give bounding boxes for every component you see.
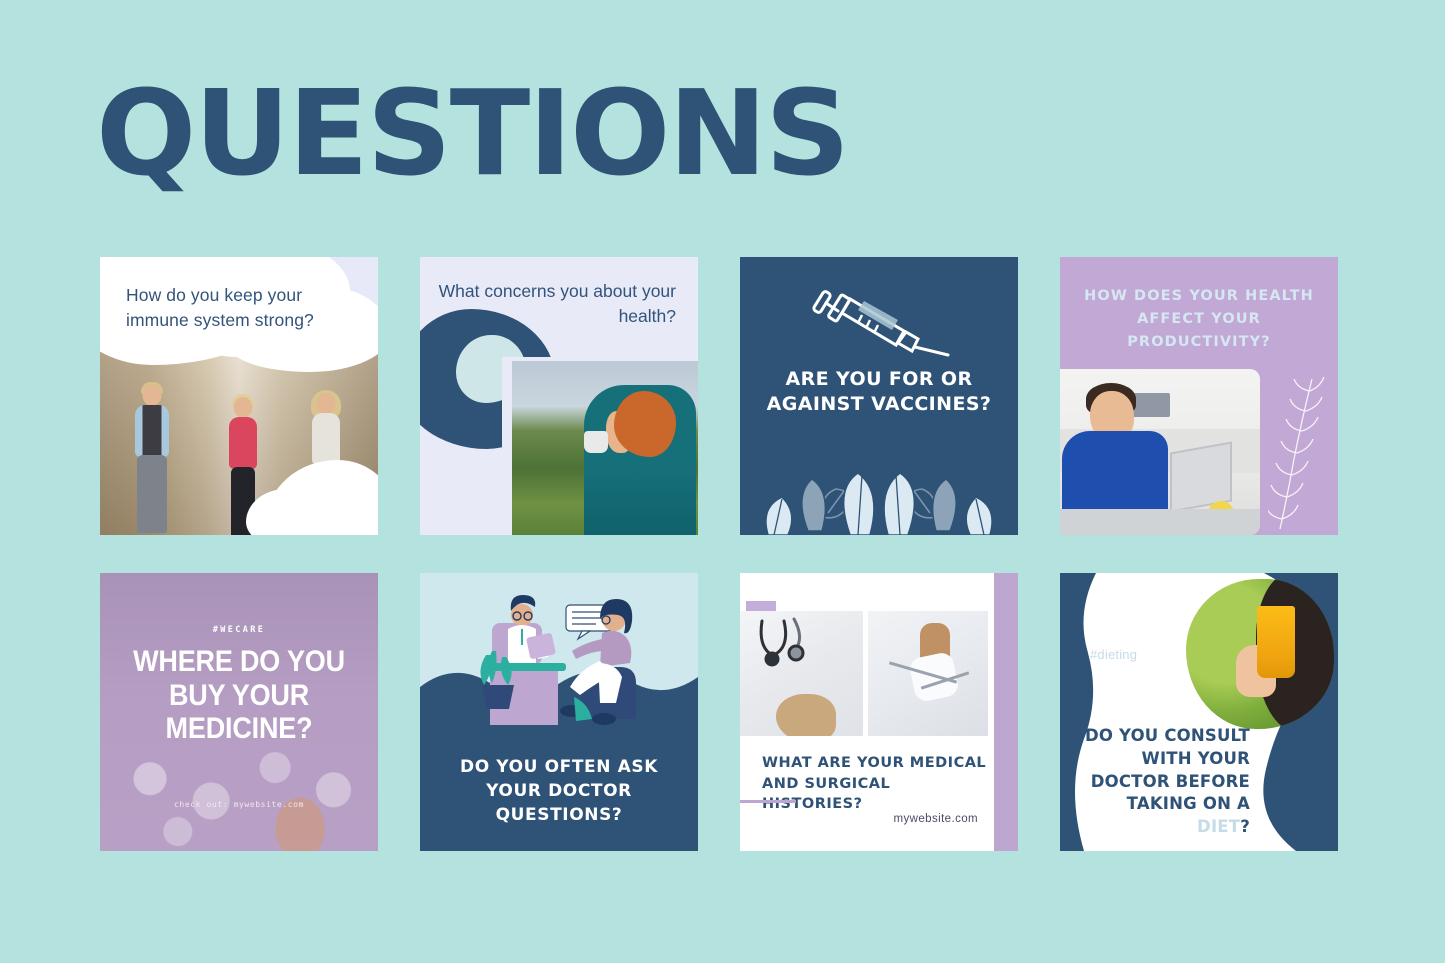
page-title: QUESTIONS: [96, 74, 848, 192]
card-vaccines[interactable]: ARE YOU FOR OR AGAINST VACCINES?: [740, 257, 1018, 535]
question-text-part1: DO YOU CONSULT WITH YOUR DOCTOR BEFORE T…: [1085, 726, 1250, 813]
card-buy-medicine[interactable]: #WECARE WHERE DO YOU BUY YOUR MEDICINE? …: [100, 573, 378, 851]
card-question: DO YOU CONSULT WITH YOUR DOCTOR BEFORE T…: [1078, 725, 1250, 839]
card-question: WHERE DO YOU BUY YOUR MEDICINE?: [123, 645, 355, 746]
card-question: What concerns you about your health?: [436, 279, 676, 329]
card-medical-history[interactable]: WHAT ARE YOUR MEDICAL AND SURGICAL HISTO…: [740, 573, 1018, 851]
card-row-1: How do you keep your immune system stron…: [100, 257, 1345, 535]
purple-accent-bar: [994, 573, 1018, 851]
card-footer-link[interactable]: mywebsite.com: [894, 813, 978, 825]
card-row-2: #WECARE WHERE DO YOU BUY YOUR MEDICINE? …: [100, 573, 1345, 851]
desk-surface: [1060, 509, 1260, 535]
coffee-mountain-photo: [512, 361, 698, 535]
hashtag-label: #dieting: [1090, 647, 1137, 662]
question-text-part3: ?: [1240, 817, 1250, 836]
hashtag-label: #WECARE: [100, 625, 378, 635]
doctor-stethoscope-photo: [740, 611, 863, 736]
orange-juice-photo: [1186, 579, 1334, 729]
stethoscope-icon: [750, 617, 820, 677]
juice-glass: [1257, 606, 1295, 678]
leaves-decoration: [740, 445, 1018, 535]
card-immune-system[interactable]: How do you keep your immune system stron…: [100, 257, 378, 535]
woman-laptop-photo: [1060, 369, 1260, 535]
question-highlight: DIET: [1197, 817, 1240, 836]
card-grid: How do you keep your immune system stron…: [100, 257, 1345, 889]
card-question: HOW DOES YOUR HEALTH AFFECT YOUR PRODUCT…: [1076, 285, 1322, 354]
card-footer-link[interactable]: check out: mywebsite.com: [100, 800, 378, 809]
card-question: ARE YOU FOR OR AGAINST VACCINES?: [758, 367, 1000, 418]
doctor-patient-illustration: [464, 589, 664, 739]
runner-figure: [126, 385, 178, 535]
botanical-sprig-icon: [1268, 377, 1332, 532]
syringe-icon: [812, 277, 962, 357]
card-consult-diet[interactable]: #dieting DO YOU CONSULT WITH YOUR DOCTOR…: [1060, 573, 1338, 851]
hair-bun: [776, 694, 836, 736]
card-question: How do you keep your immune system stron…: [126, 283, 358, 333]
coffee-cup: [584, 431, 608, 453]
card-health-concerns[interactable]: What concerns you about your health?: [420, 257, 698, 535]
poster-canvas: QUESTIONS: [0, 0, 1445, 963]
purple-underline-accent: [740, 800, 796, 803]
card-question: DO YOU OFTEN ASK YOUR DOCTOR QUESTIONS?: [438, 755, 680, 827]
card-ask-doctor[interactable]: DO YOU OFTEN ASK YOUR DOCTOR QUESTIONS?: [420, 573, 698, 851]
hair-shape: [614, 391, 676, 457]
surgical-tools-photo: [868, 611, 988, 736]
card-question: WHAT ARE YOUR MEDICAL AND SURGICAL HISTO…: [762, 753, 988, 815]
card-productivity[interactable]: HOW DOES YOUR HEALTH AFFECT YOUR PRODUCT…: [1060, 257, 1338, 535]
